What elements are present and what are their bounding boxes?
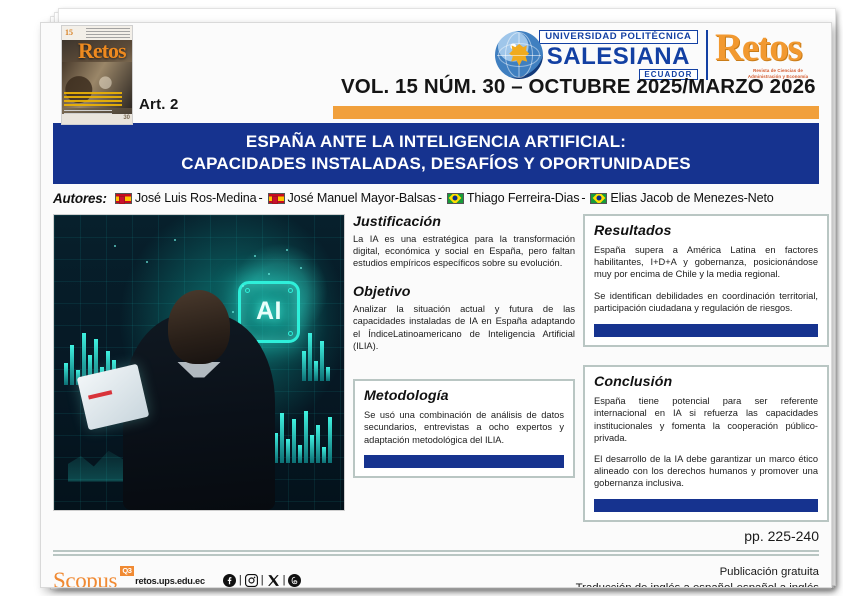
conclusion-paragraph-1: España tiene potencial para ser referent… — [594, 395, 818, 445]
author-separator-1: - — [258, 191, 262, 205]
right-column: Resultados España supera a América Latin… — [583, 214, 829, 522]
resultados-card: Resultados España supera a América Latin… — [583, 214, 829, 347]
metodologia-text: Se usó una combinación de análisis de da… — [364, 409, 564, 446]
conclusion-heading: Conclusión — [594, 374, 818, 390]
objetivo-heading: Objetivo — [353, 284, 575, 300]
author-separator-2: - — [438, 191, 442, 205]
facebook-icon[interactable] — [223, 574, 236, 587]
scopus-badge[interactable]: Scopus Q3 — [53, 569, 117, 588]
article-title-band: ESPAÑA ANTE LA INTELIGENCIA ARTIFICIAL: … — [53, 123, 819, 184]
justificacion-section: Justificación La IA es una estratégica p… — [353, 214, 575, 270]
publisher-logo-lockup: UNIVERSIDAD POLITÉCNICA SALESIANA ECUADO… — [495, 29, 811, 81]
article-title-line-2: CAPACIDADES INSTALADAS, DESAFÍOS Y OPORT… — [63, 153, 809, 175]
social-separator: | — [261, 575, 264, 586]
flag-spain-icon — [115, 193, 132, 204]
flag-brazil-icon — [590, 193, 607, 204]
hero-glow-dots — [54, 215, 344, 510]
footer-note-line-1: Publicación gratuita — [576, 565, 819, 581]
ups-line-1: UNIVERSIDAD POLITÉCNICA — [539, 30, 697, 44]
middle-column: Justificación La IA es una estratégica p… — [353, 214, 575, 479]
conclusion-paragraph-2: El desarrollo de la IA debe garantizar u… — [594, 453, 818, 490]
volume-issue-line: VOL. 15 NÚM. 30 – OCTUBRE 2025/MARZO 202… — [341, 75, 811, 99]
conclusion-card: Conclusión España tiene potencial para s… — [583, 365, 829, 522]
footer-notes: Publicación gratuita Traducción de inglé… — [576, 565, 819, 588]
cover-issue-number: 15 — [65, 28, 73, 37]
author-name-3: Thiago Ferreira-Dias — [467, 191, 579, 205]
author-name-4: Elias Jacob de Menezes-Neto — [610, 191, 773, 205]
metodologia-heading: Metodología — [364, 388, 564, 404]
metodologia-blue-rule — [364, 455, 564, 468]
article-number-label: Art. 2 — [139, 96, 179, 113]
justificacion-text: La IA es una estratégica para la transfo… — [353, 233, 575, 270]
retos-logo-text: Retos — [715, 28, 801, 67]
authors-row: Autores: José Luis Ros-Medina - José Man… — [53, 191, 819, 206]
retos-wordmark: Retos Revista de Ciencias de Administrac… — [715, 29, 811, 81]
poster-stage: 15 Retos 30 Art. 2 UNIVERSIDAD POLITÉCNI… — [0, 0, 843, 596]
cover-bottom-strip: 30 — [62, 114, 132, 124]
cover-masthead-lines — [86, 28, 130, 38]
journal-website-link[interactable]: retos.ups.edu.ec — [135, 576, 205, 586]
x-twitter-icon[interactable] — [267, 574, 280, 587]
journal-cover-thumbnail: 15 Retos 30 — [61, 25, 133, 125]
cover-journal-name: Retos — [78, 38, 126, 64]
metodologia-card: Metodología Se usó una combinación de an… — [353, 379, 575, 478]
article-title-line-1: ESPAÑA ANTE LA INTELIGENCIA ARTIFICIAL: — [63, 131, 809, 153]
objetivo-text: Analizar la situación actual y futura de… — [353, 303, 575, 353]
footer-note-line-2: Traducción de inglés a español-español a… — [576, 581, 819, 588]
ups-wordmark: UNIVERSIDAD POLITÉCNICA SALESIANA ECUADO… — [539, 30, 697, 80]
page-range: pp. 225-240 — [53, 522, 819, 544]
social-separator: | — [283, 575, 286, 586]
resultados-paragraph-1: España supera a América Latina en factor… — [594, 244, 818, 281]
resultados-blue-rule — [594, 324, 818, 337]
resultados-paragraph-2: Se identifican debilidades en coordinaci… — [594, 290, 818, 315]
justificacion-heading: Justificación — [353, 214, 575, 230]
flag-spain-icon — [268, 193, 285, 204]
conclusion-blue-rule — [594, 499, 818, 512]
poster-footer: Scopus Q3 retos.ups.edu.ec | — [53, 565, 819, 588]
social-separator: | — [239, 575, 242, 586]
social-links: | | | — [223, 574, 302, 587]
footer-left-group: Scopus Q3 retos.ups.edu.ec | — [53, 569, 301, 588]
flag-brazil-icon — [447, 193, 464, 204]
instagram-icon[interactable] — [245, 574, 258, 587]
globe-icon — [495, 31, 543, 79]
author-name-1: José Luis Ros-Medina — [135, 191, 257, 205]
author-name-2: José Manuel Mayor-Balsas — [288, 191, 436, 205]
cover-headline-band — [64, 92, 122, 108]
resultados-heading: Resultados — [594, 223, 818, 239]
footer-divider-rule — [53, 550, 819, 556]
scopus-label: Scopus — [53, 568, 117, 588]
scopus-quartile-badge: Q3 — [120, 566, 134, 576]
authors-label: Autores: — [53, 191, 107, 206]
poster-body: AI Justificación La IA es una estratégic… — [53, 214, 819, 522]
author-separator-3: - — [581, 191, 585, 205]
ups-line-2: SALESIANA — [539, 45, 697, 68]
threads-icon[interactable] — [288, 574, 301, 587]
ai-businessman-dashboard-image: AI — [53, 214, 345, 511]
objetivo-section: Objetivo Analizar la situación actual y … — [353, 284, 575, 353]
poster-header: 15 Retos 30 Art. 2 UNIVERSIDAD POLITÉCNI… — [41, 23, 831, 119]
poster-page: 15 Retos 30 Art. 2 UNIVERSIDAD POLITÉCNI… — [40, 22, 832, 588]
orange-accent-bar — [333, 106, 819, 119]
logo-divider — [706, 30, 709, 80]
